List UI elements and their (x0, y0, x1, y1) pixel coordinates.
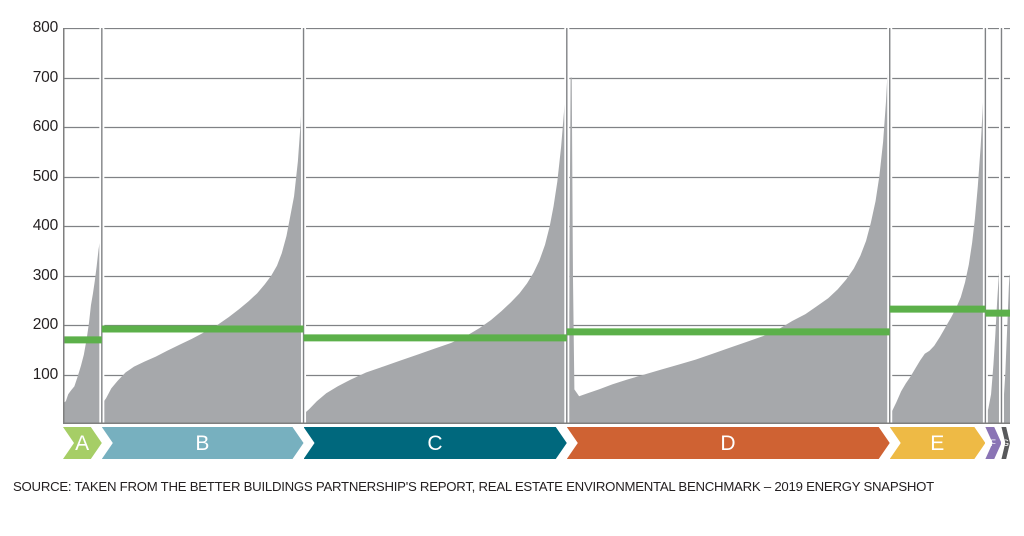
rating-band-b[interactable]: B (102, 427, 304, 459)
rating-band-label: F (990, 439, 996, 448)
rating-band-label: G (1002, 439, 1010, 448)
rating-band-f[interactable]: F (985, 427, 1001, 459)
rating-band-label: B (195, 433, 210, 454)
rating-band-label: C (427, 433, 443, 454)
y-axis-tick-label: 600 (12, 119, 58, 135)
rating-band-e[interactable]: E (890, 427, 986, 459)
band-area-a (63, 236, 102, 424)
y-axis-tick-label: 700 (12, 70, 58, 86)
y-axis-tick-label: 200 (12, 317, 58, 333)
band-area-b (102, 78, 304, 425)
rating-band-legend: ABCDEFG (63, 427, 1010, 459)
rating-band-label: D (720, 433, 736, 454)
rating-band-g[interactable]: G (1001, 427, 1010, 459)
rating-band-label: E (930, 433, 945, 454)
rating-band-c[interactable]: C (304, 427, 567, 459)
distribution-chart (63, 28, 1010, 424)
y-axis-tick-label: 300 (12, 268, 58, 284)
y-axis-tick-label: 800 (12, 20, 58, 36)
y-axis: 100200300400500600700800 (0, 0, 58, 536)
band-area-c (304, 84, 567, 424)
source-note: SOURCE: TAKEN FROM THE BETTER BUILDINGS … (13, 479, 934, 494)
area-series (63, 34, 1010, 424)
rating-band-d[interactable]: D (567, 427, 890, 459)
chart-figure: 100200300400500600700800 ABCDEFG SOURCE:… (0, 0, 1024, 536)
y-axis-tick-label: 100 (12, 367, 58, 383)
y-axis-tick-label: 400 (12, 218, 58, 234)
rating-band-a[interactable]: A (63, 427, 102, 459)
y-axis-tick-label: 500 (12, 169, 58, 185)
band-area-d (567, 34, 890, 424)
plot-area (63, 28, 1010, 424)
band-area-e (890, 78, 986, 425)
rating-band-label: A (75, 433, 90, 454)
